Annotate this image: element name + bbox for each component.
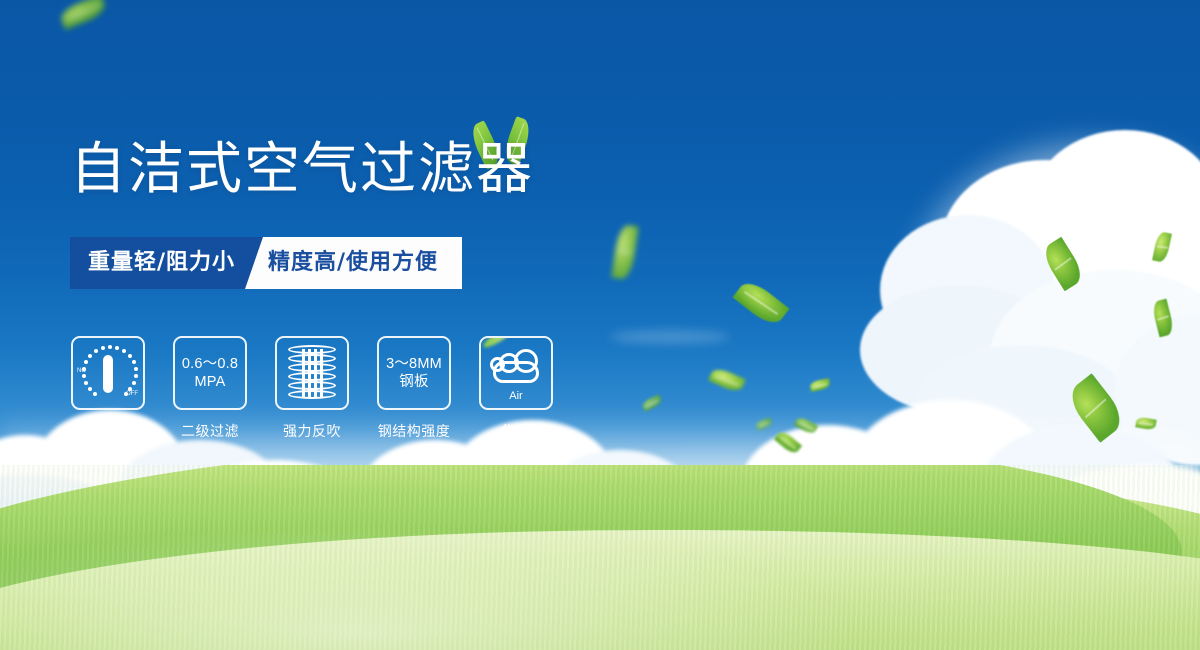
- feature-icon-box: 3～8MM 钢板: [377, 336, 451, 410]
- feature-item-control-panel[interactable]: NO OFF 控制仪: [70, 336, 146, 441]
- pressure-line-2: MPA: [182, 373, 238, 391]
- gauge-needle: [103, 355, 113, 393]
- page-title: 自洁式空气过滤器: [70, 142, 534, 198]
- steel-plate-text-icon: 3～8MM 钢板: [386, 355, 442, 391]
- grass-highlight: [0, 480, 1200, 650]
- feature-label: 强力反吹: [283, 421, 341, 441]
- feature-label: 二级过滤: [181, 421, 239, 441]
- gauge-icon: NO OFF: [77, 344, 139, 402]
- gauge-label-off: OFF: [126, 391, 138, 397]
- feature-icon-box: 0.6～0.8 MPA: [173, 336, 247, 410]
- subtitle-left-text: 重量轻/阻力小: [88, 237, 235, 289]
- subtitle-bar: 重量轻/阻力小 精度高/使用方便: [70, 237, 462, 289]
- steel-line-1: 3～8MM: [386, 355, 442, 373]
- air-label: Air: [487, 390, 545, 402]
- cloud-air-icon: Air: [487, 347, 545, 399]
- cloud-body: [493, 361, 539, 383]
- subtitle-right-text: 精度高/使用方便: [268, 237, 438, 289]
- feature-icon-row: NO OFF 控制仪 0.6～0.8 MPA 二级过滤: [70, 336, 554, 441]
- product-hero-banner: 自洁式空气过滤器 重量轻/阻力小 精度高/使用方便: [0, 0, 1200, 650]
- feature-icon-box: NO OFF: [71, 336, 145, 410]
- feature-item-two-stage-filter[interactable]: 0.6～0.8 MPA 二级过滤: [172, 336, 248, 441]
- steel-line-2: 钢板: [386, 373, 442, 391]
- filter-coil-icon: [288, 345, 336, 401]
- pressure-line-1: 0.6～0.8: [182, 355, 238, 373]
- gauge-label-on: NO: [77, 368, 86, 374]
- feature-icon-box: [275, 336, 349, 410]
- grass-field: [0, 465, 1200, 650]
- feature-item-steel-strength[interactable]: 3～8MM 钢板 钢结构强度: [376, 336, 452, 441]
- feature-label: 钢结构强度: [378, 421, 451, 441]
- feature-label: 控制仪: [86, 421, 130, 441]
- leaf-streak-decoration: [481, 336, 515, 350]
- cloud-wisp: [610, 330, 730, 344]
- feature-icon-box: Air: [479, 336, 553, 410]
- feature-label: 集尘: [502, 421, 531, 441]
- feature-item-backflush[interactable]: 强力反吹: [274, 336, 350, 441]
- pressure-text-icon: 0.6～0.8 MPA: [182, 355, 238, 391]
- feature-item-dust-collection[interactable]: Air 集尘: [478, 336, 554, 441]
